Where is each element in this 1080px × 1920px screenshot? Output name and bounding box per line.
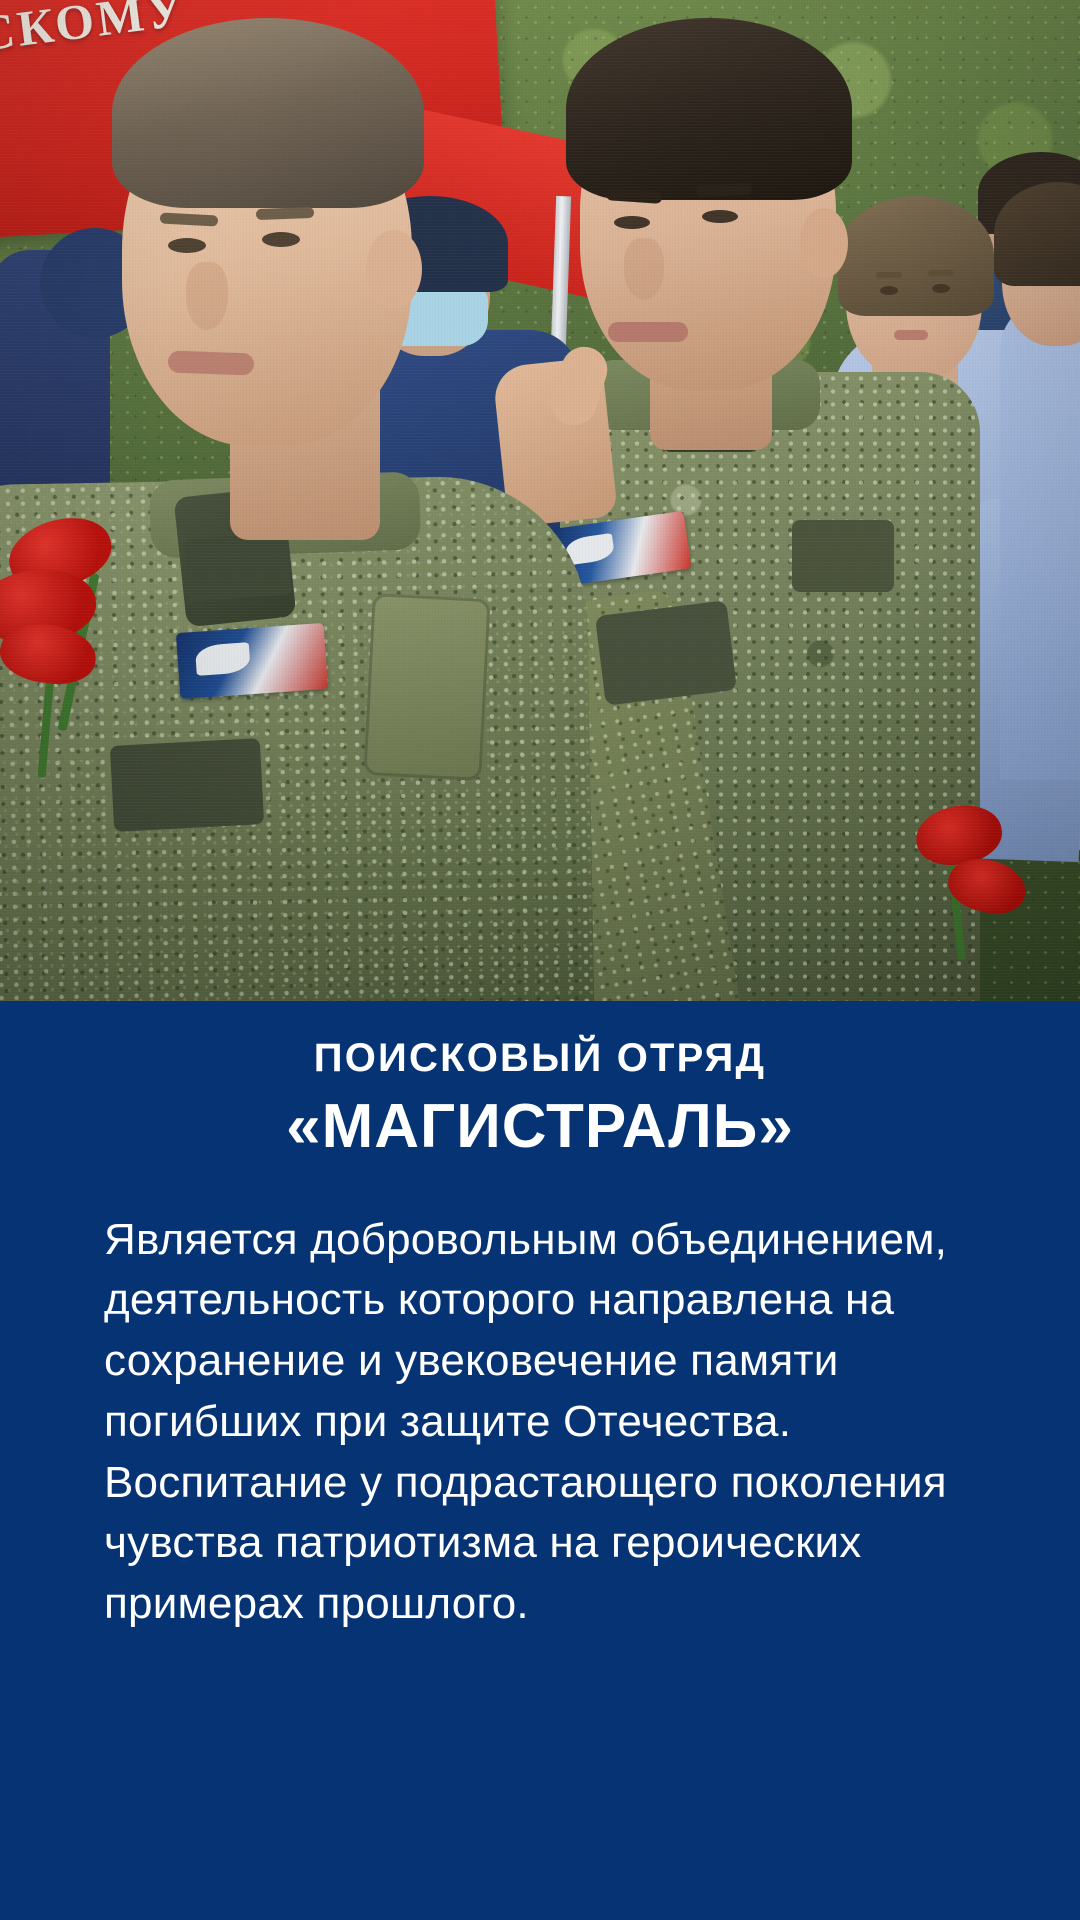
soldier-left-sleeve-pocket [363,593,490,781]
soldier-right-velcro-patch [792,520,894,592]
girl-eye-left [880,286,898,295]
eyebrow-label: ПОИСКОВЫЙ ОТРЯД [0,1001,1080,1078]
soldier-left-nose [186,262,228,330]
hero-photo: ЕСКОМУ [0,0,1080,1001]
soldier-left-eyebrow-right [256,207,314,220]
soldier-left-velcro-patch [184,532,292,601]
soldier-left-flag-patch [176,623,328,699]
soldier-left-eye-left [168,238,206,253]
soldier-right-ear [800,208,848,278]
girl-eye-right [932,284,950,293]
soldier-right-mouth [608,322,688,342]
description-text: Является добровольным объединением, деят… [0,1160,1080,1635]
soldier-right-eye-right [702,210,738,223]
girl-mouth [894,330,928,340]
soldier-left-eye-right [262,232,300,247]
soldier-left-hair [112,18,424,208]
girl-eyebrow-right [928,270,954,276]
soldier-right-hair [566,18,852,200]
soldier-left-ear [366,230,422,308]
soldier-left-mouth [168,351,255,376]
girl-eyebrow-left [876,272,902,278]
soldier-right-eye-left [614,216,650,229]
soldier-left-pocket-flap [110,738,264,832]
soldier-right-nose [624,238,664,300]
girl-hair [838,196,994,316]
soldier-right-sleeve-velcro [595,600,737,705]
girl-far-right-coat [1000,300,1080,780]
info-card: ЕСКОМУ [0,0,1080,1920]
text-panel: ПОИСКОВЫЙ ОТРЯД «МАГИСТРАЛЬ» Является до… [0,1001,1080,1920]
page-title: «МАГИСТРАЛЬ» [0,1078,1080,1160]
